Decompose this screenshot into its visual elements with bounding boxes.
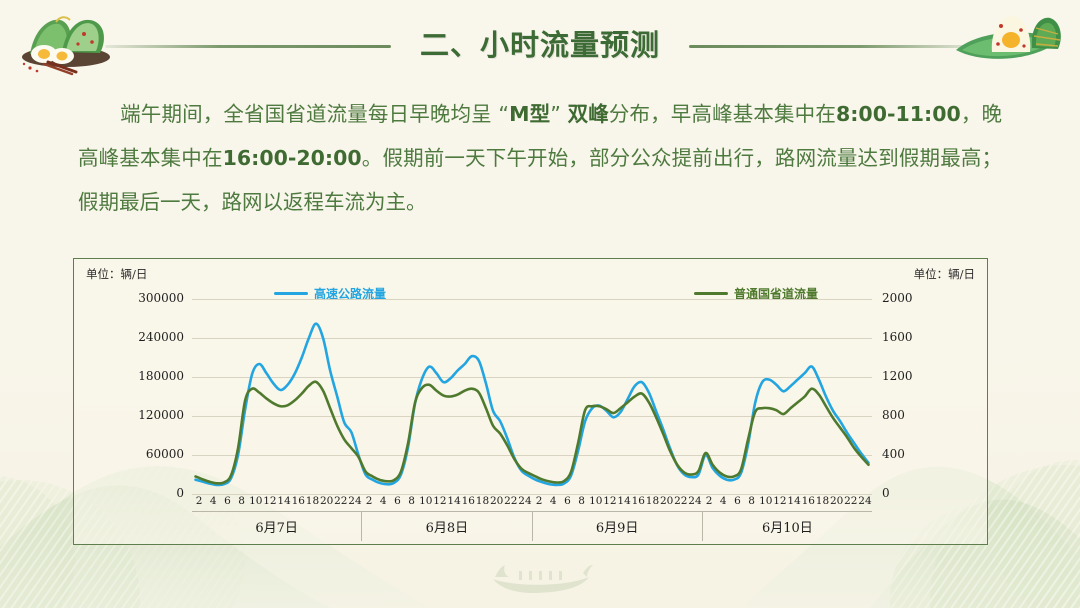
y-tick-right: 800 [882, 416, 905, 430]
body-paragraph: 端午期间，全省国省道流量每日早晚均呈 “M型” 双峰分布，早高峰基本集中在8:0… [78, 92, 1002, 224]
unit-label-left: 单位：辆/日 [86, 266, 147, 282]
y-tick-left: 120000 [138, 416, 184, 430]
y-tick-right: 1600 [882, 338, 913, 352]
day-group-label: 6月8日 [361, 512, 531, 541]
unit-label-right: 单位：辆/日 [914, 266, 975, 282]
y-tick-right: 400 [882, 455, 905, 469]
slide-header: 二、小时流量预测 [0, 0, 1080, 82]
zongzi-plate-icon [4, 4, 132, 76]
y-tick-right: 2000 [882, 299, 913, 313]
series-line-highway [196, 324, 869, 485]
series-line-national-road [196, 382, 869, 484]
paragraph-segment-4: 分布，早高峰基本集中在 [609, 102, 836, 126]
chart-series-svg [192, 299, 872, 494]
legend-swatch-national-road [694, 292, 728, 296]
y-tick-left: 60000 [146, 455, 184, 469]
day-group-label: 6月9日 [532, 512, 702, 541]
y-tick-left: 300000 [138, 299, 184, 313]
slide-canvas: 二、小时流量预测 [0, 0, 1080, 608]
zongzi-leaf-icon [948, 4, 1076, 76]
paragraph-segment-5: 8:00-11:00 [836, 102, 961, 126]
dragon-boat-icon [485, 553, 595, 604]
chart-plot-area: 060000120000180000240000300000 040080012… [192, 299, 872, 494]
y-tick-left: 240000 [138, 338, 184, 352]
y-tick-right: 0 [882, 494, 890, 508]
paragraph-text: 端午期间，全省国省道流量每日早晚均呈 “M型” 双峰分布，早高峰基本集中在8:0… [78, 102, 1002, 214]
y-tick-right: 1200 [882, 377, 913, 391]
x-axis-day-groups: 6月7日6月8日6月9日6月10日 [192, 511, 872, 541]
day-group-label: 6月7日 [192, 512, 361, 541]
paragraph-segment-1: M型 [509, 102, 550, 126]
paragraph-segment-7: 16:00-20:00 [223, 146, 362, 170]
paragraph-segment-0: 端午期间，全省国省道流量每日早晚均呈 “ [120, 102, 509, 126]
paragraph-segment-3: 双峰 [568, 102, 609, 126]
day-group-label: 6月10日 [702, 512, 872, 541]
page-title: 二、小时流量预测 [0, 22, 1080, 64]
y-tick-left: 0 [176, 494, 184, 508]
hourly-traffic-chart-panel: 单位：辆/日 单位：辆/日 高速公路流量 普通国省道流量 06000012000… [73, 258, 988, 545]
legend-swatch-highway [274, 292, 308, 296]
y-tick-left: 180000 [138, 377, 184, 391]
paragraph-segment-2: ” [550, 102, 567, 126]
